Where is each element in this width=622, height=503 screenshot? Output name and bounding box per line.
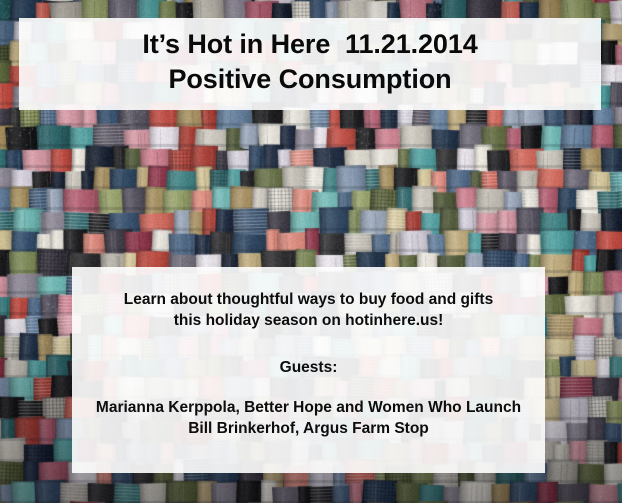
- slide-title-line-1: It’s Hot in Here 11.21.2014: [142, 27, 477, 62]
- title-overlay-panel: It’s Hot in Here 11.21.2014 Positive Con…: [19, 18, 601, 110]
- blurb-line-1: Learn about thoughtful ways to buy food …: [124, 289, 493, 310]
- presentation-slide: It’s Hot in Here 11.21.2014 Positive Con…: [0, 0, 622, 503]
- guests-label: Guests:: [280, 357, 338, 378]
- blurb-line-2: this holiday season on hotinhere.us!: [174, 310, 444, 331]
- slide-title-line-2: Positive Consumption: [168, 62, 451, 97]
- body-overlay-panel: Learn about thoughtful ways to buy food …: [72, 267, 545, 473]
- guest-name-1: Marianna Kerppola, Better Hope and Women…: [96, 397, 521, 418]
- guest-name-2: Bill Brinkerhof, Argus Farm Stop: [188, 418, 429, 439]
